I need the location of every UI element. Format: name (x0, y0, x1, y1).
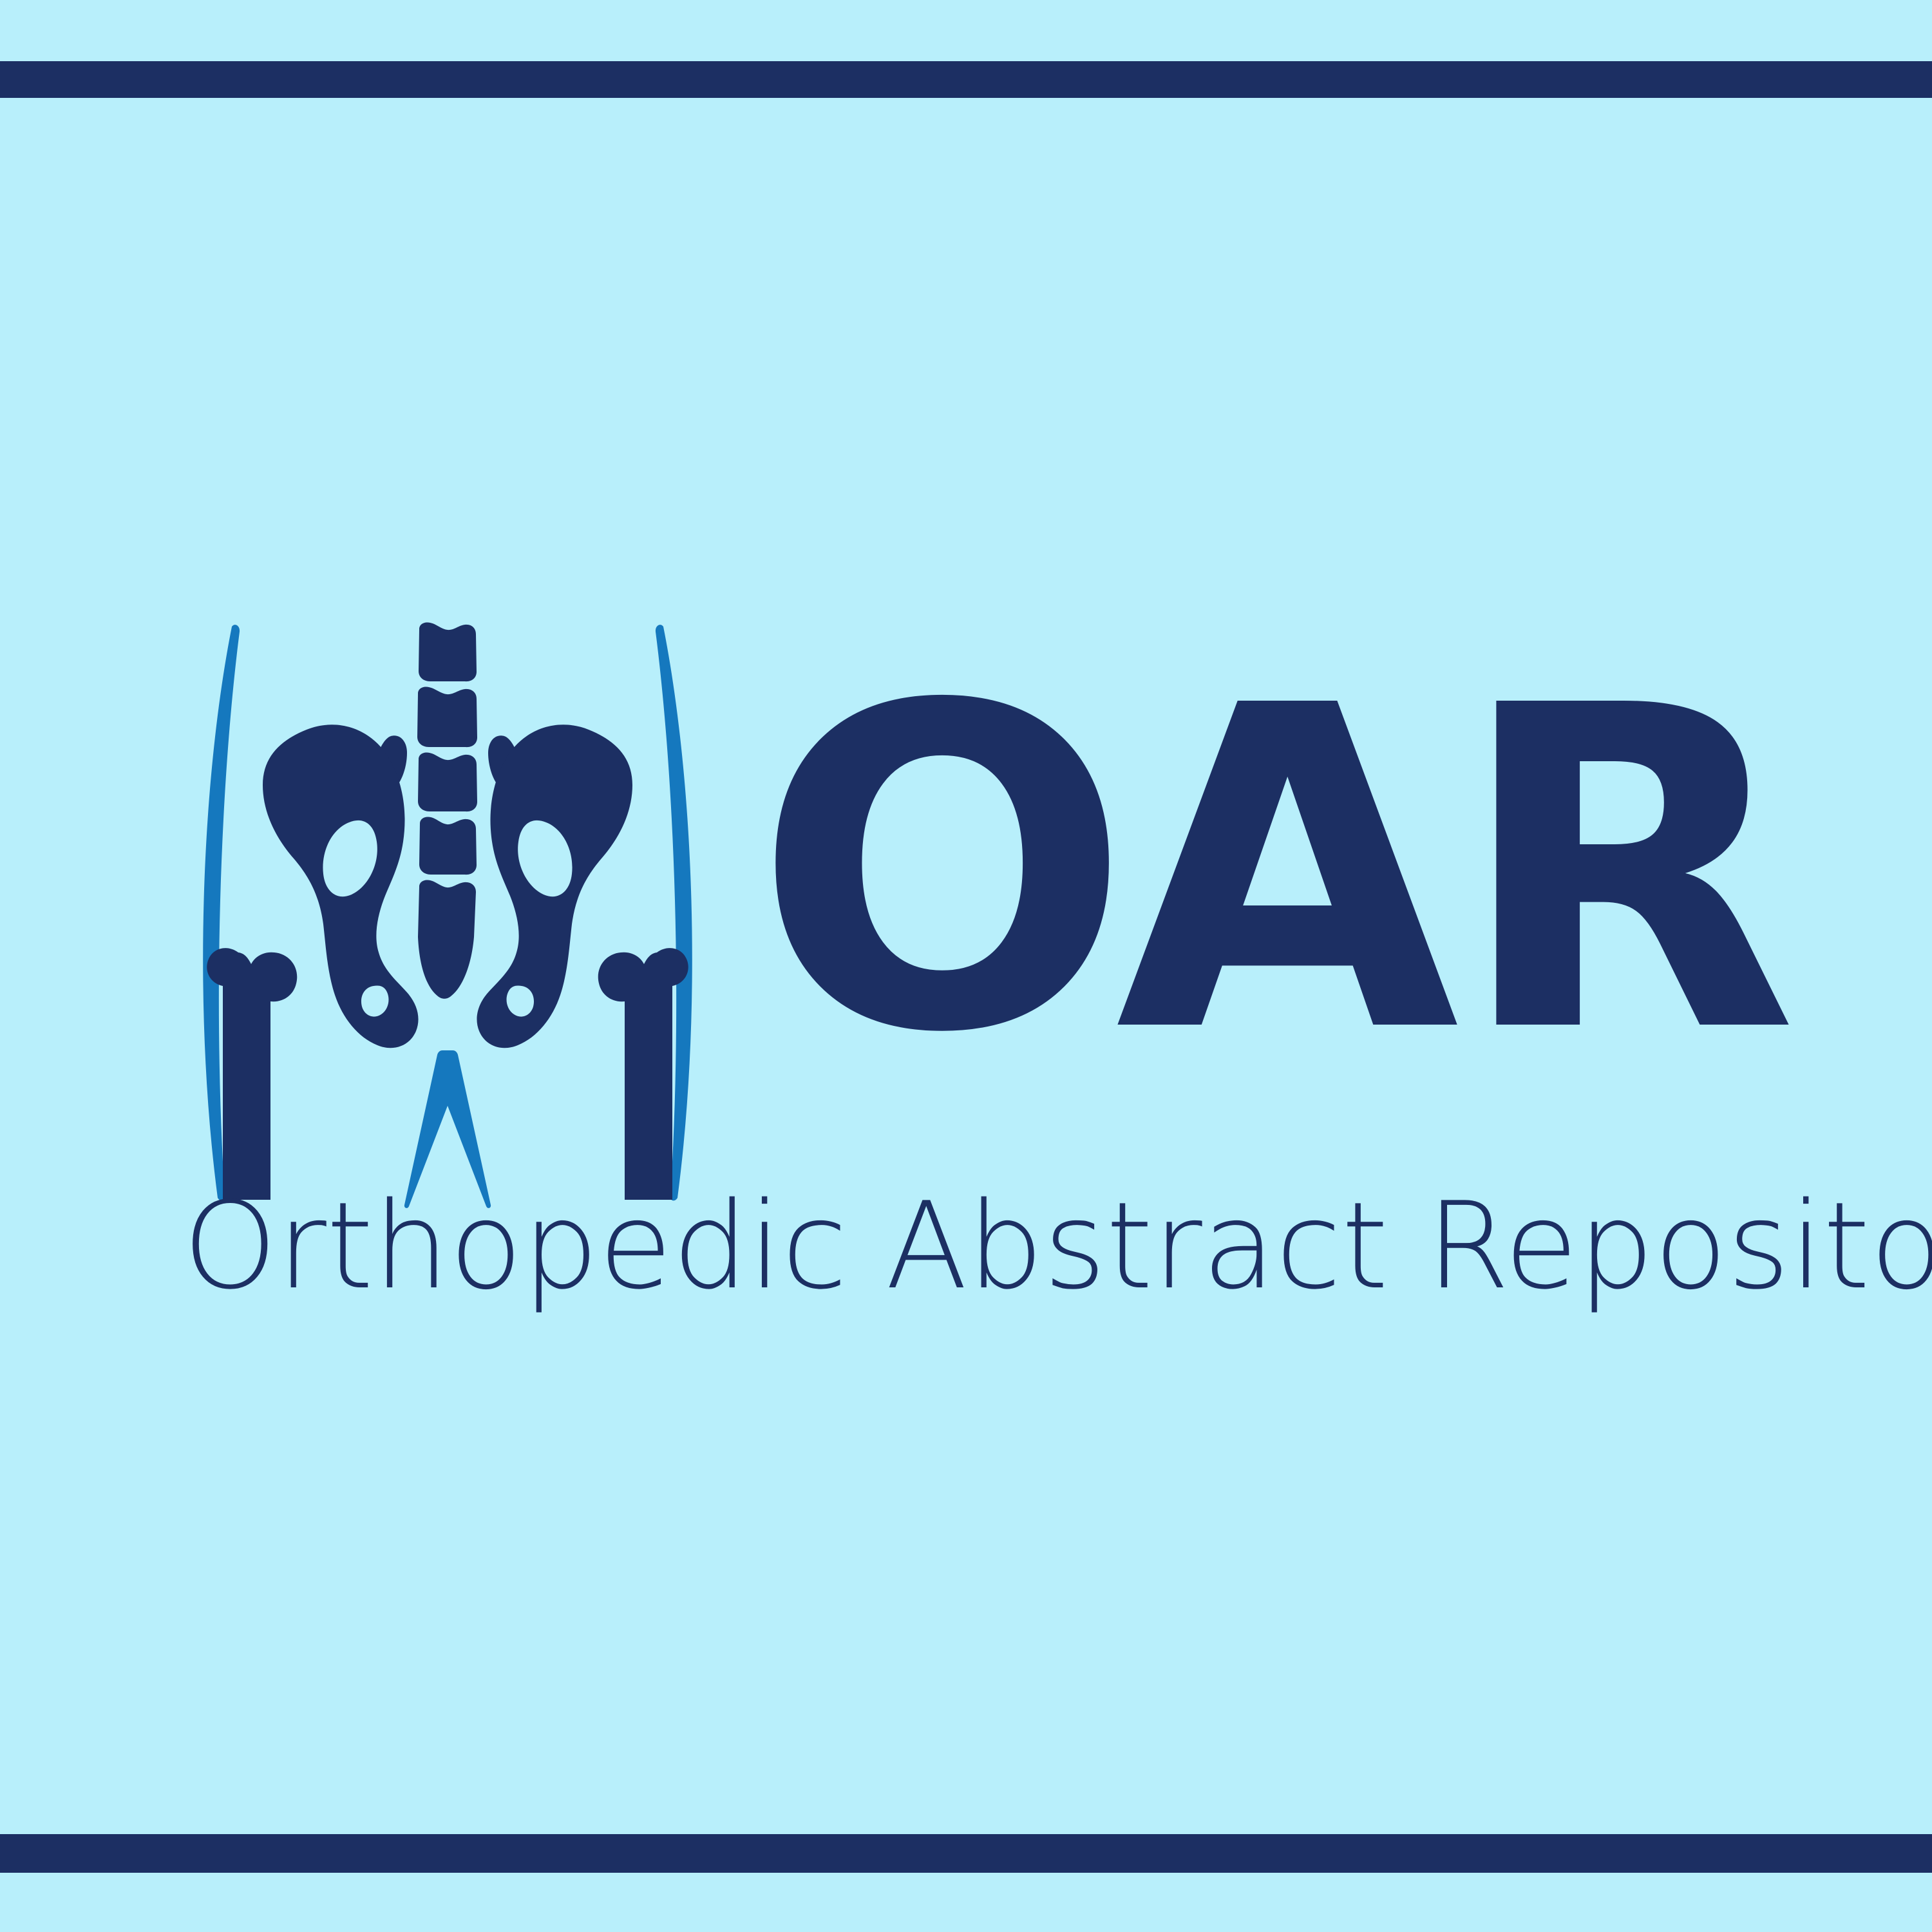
logo-lockup: OAR Orthopedic Abstract Repository (180, 615, 1803, 1336)
vertebra-l2 (417, 687, 477, 747)
wordmark-oar: OAR (753, 646, 1803, 1097)
tagline-text: Orthopedic Abstract Repository (183, 1182, 1803, 1311)
bottom-divider-rule (0, 1834, 1932, 1873)
page-canvas: OAR Orthopedic Abstract Repository (0, 0, 1932, 1932)
vertebra-l1 (419, 622, 477, 681)
vertebra-l4 (419, 817, 477, 875)
sacrum (418, 880, 476, 998)
top-divider-rule (0, 61, 1932, 98)
lumbar-spine-icon (417, 622, 477, 998)
left-hip-bone-icon (263, 724, 419, 1048)
right-hip-bone-icon (477, 724, 632, 1048)
vertebra-l3 (418, 752, 477, 811)
pelvis-skeleton-logo-mark (180, 615, 715, 1211)
